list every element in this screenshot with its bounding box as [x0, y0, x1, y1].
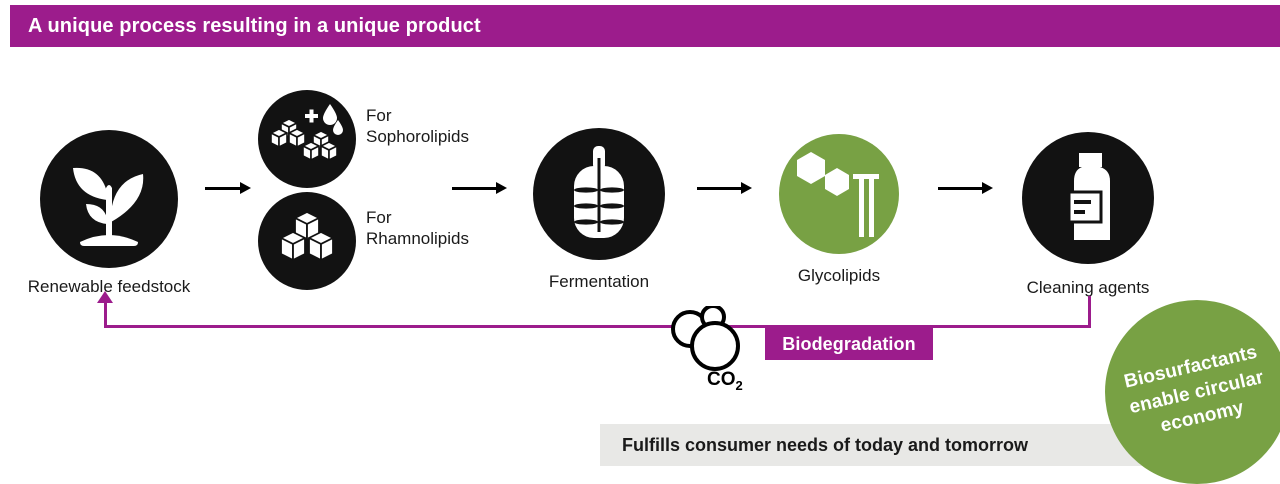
glycolipids-circle — [779, 134, 899, 254]
renewable-feedstock-circle — [40, 130, 178, 268]
arrow-feedstock-to-inputs — [205, 182, 251, 194]
glycolipid-molecule-icon — [779, 134, 899, 254]
label-fermentation: Fermentation — [499, 273, 699, 292]
cleaning-agents-circle — [1022, 132, 1154, 264]
label-glycolipids: Glycolipids — [749, 267, 929, 286]
label-for-rhamnolipids: For Rhamnolipids — [366, 207, 469, 250]
sugar-cubes-plus-oil-drops-icon — [258, 90, 356, 188]
plus-sign — [305, 110, 318, 123]
page-title: A unique process resulting in a unique p… — [28, 16, 481, 36]
plant-sprout-icon — [40, 130, 178, 268]
co2-label: CO2 — [707, 369, 743, 393]
label-cleaning-agents: Cleaning agents — [994, 279, 1182, 298]
circular-economy-badge-text: Biosurfactants enable circular economy — [1122, 339, 1273, 445]
oil-droplet-icon — [323, 104, 337, 125]
loop-right-riser — [1088, 296, 1091, 328]
bioreactor-icon — [533, 128, 665, 260]
step-sophorolipids-inputs: For Sophorolipids — [258, 90, 356, 188]
arrow-fermentation-to-glycolipids — [697, 182, 753, 194]
sophorolipids-circle — [258, 90, 356, 188]
biodegradation-chip[interactable]: Biodegradation — [765, 328, 933, 360]
arrow-glycolipids-to-cleaning — [938, 182, 994, 194]
header-bar: A unique process resulting in a unique p… — [10, 5, 1280, 47]
step-renewable-feedstock: Renewable feedstock — [40, 130, 178, 268]
co2-label-text: CO — [707, 369, 736, 390]
sugar-cubes-icon — [258, 192, 356, 290]
label-for-rhamnolipids-line1: For — [366, 207, 469, 228]
loop-left-riser — [104, 302, 107, 328]
label-for-sophorolipids-line1: For — [366, 105, 469, 126]
infographic-canvas: A unique process resulting in a unique p… — [0, 0, 1280, 483]
step-glycolipids: Glycolipids — [779, 134, 899, 254]
detergent-bottle-icon — [1022, 132, 1154, 264]
step-cleaning-agents: Cleaning agents — [1022, 132, 1154, 264]
circular-economy-badge: Biosurfactants enable circular economy — [1105, 300, 1280, 484]
fermentation-circle — [533, 128, 665, 260]
loop-arrowhead-up-icon — [97, 291, 113, 303]
co2-subscript: 2 — [736, 378, 743, 393]
label-for-sophorolipids-line2: Sophorolipids — [366, 126, 469, 147]
co2-bubbles-group: CO2 — [668, 306, 768, 386]
label-for-rhamnolipids-line2: Rhamnolipids — [366, 228, 469, 249]
bottom-banner: Fulfills consumer needs of today and tom… — [600, 424, 1150, 466]
rhamnolipids-circle — [258, 192, 356, 290]
biodegradation-label: Biodegradation — [782, 334, 915, 355]
step-rhamnolipids-inputs: For Rhamnolipids — [258, 192, 356, 290]
label-for-sophorolipids: For Sophorolipids — [366, 105, 469, 148]
arrow-inputs-to-fermentation — [452, 182, 508, 194]
bottom-banner-text: Fulfills consumer needs of today and tom… — [622, 435, 1028, 456]
loop-horizontal-line — [106, 325, 1091, 328]
step-fermentation: Fermentation — [533, 128, 665, 260]
